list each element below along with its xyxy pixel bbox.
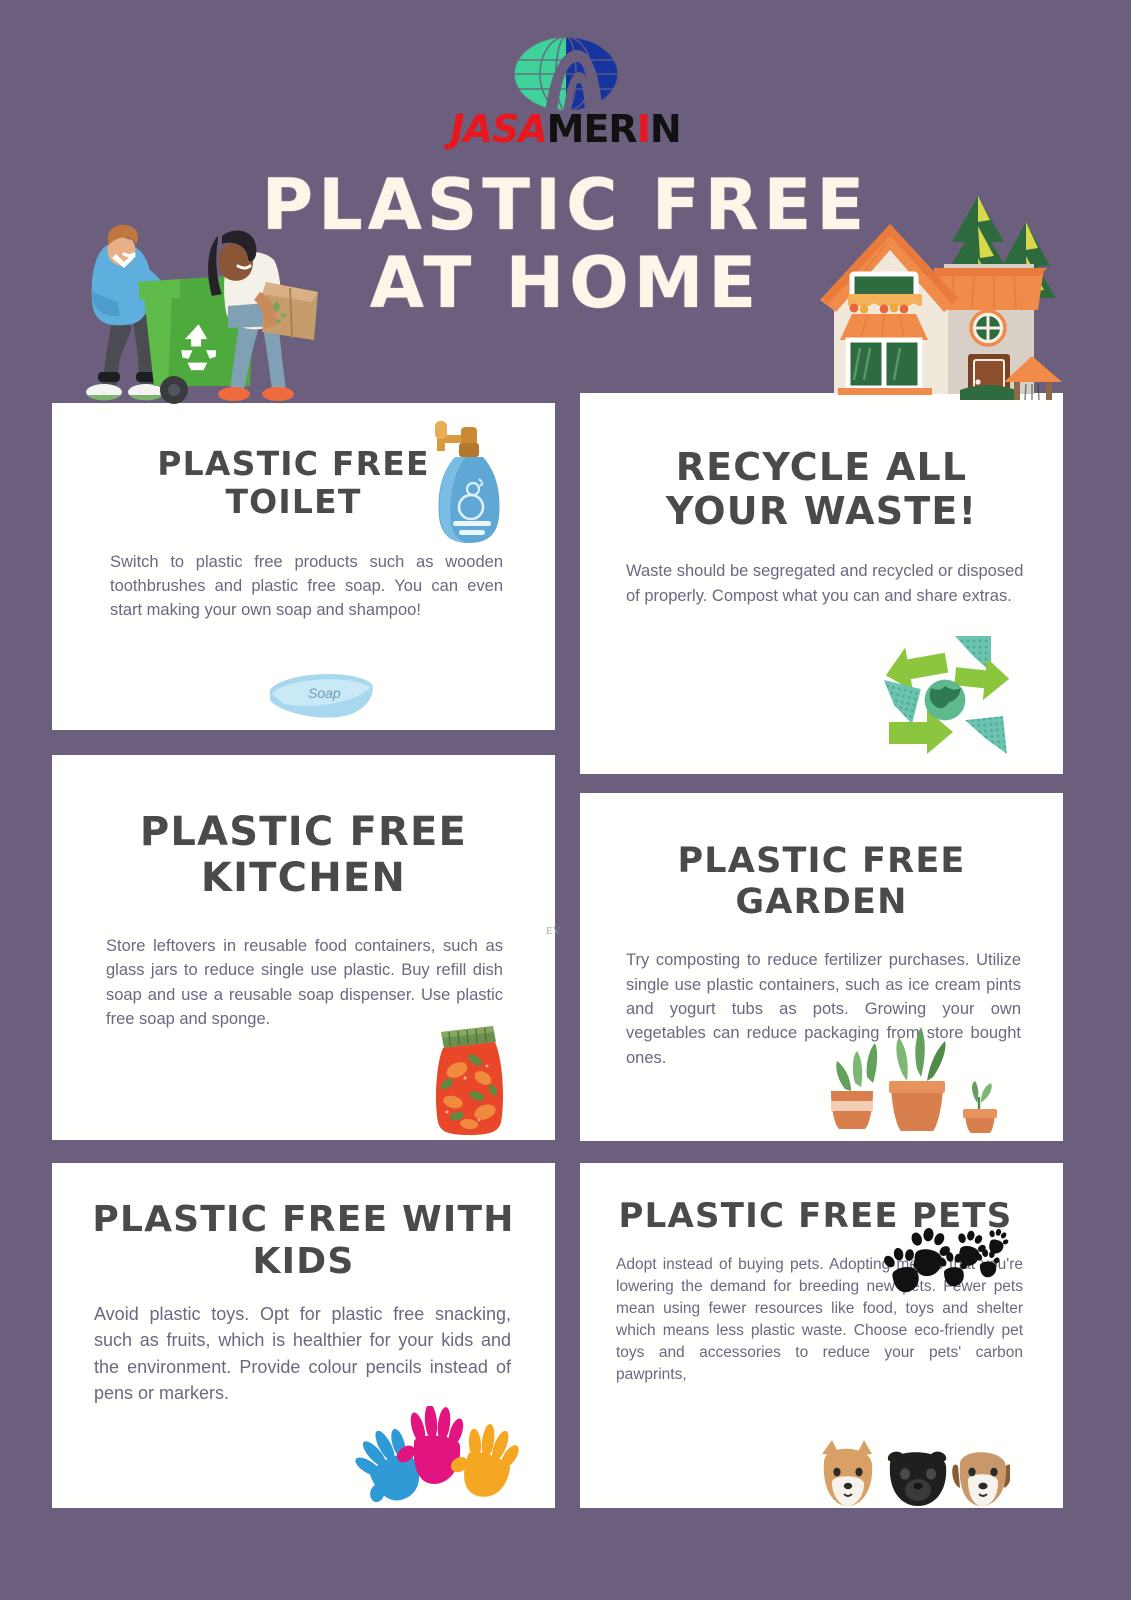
paw-prints-icon xyxy=(877,1225,1011,1293)
card-recycle-all-your-waste[interactable]: RECYCLE ALL YOUR WASTE! Waste should be … xyxy=(580,393,1063,774)
card-plastic-free-garden[interactable]: PLASTIC FREE GARDEN Try composting to re… xyxy=(580,793,1063,1141)
card-title-kids: PLASTIC FREE WITH KIDS xyxy=(74,1199,533,1283)
card-plastic-free-pets[interactable]: PLASTIC FREE PETS xyxy=(580,1163,1063,1508)
card-plastic-free-toilet[interactable]: PLASTIC FREE TOILET Switch to plastic fr… xyxy=(52,403,555,730)
potted-plants-illustration xyxy=(825,1025,1005,1135)
handprints-illustration xyxy=(352,1406,532,1506)
title-line-2: AT HOME xyxy=(0,244,1131,322)
brand-mer: MER xyxy=(547,107,637,151)
dogs-illustration xyxy=(810,1436,1010,1508)
recycle-arrows-globe-illustration xyxy=(869,626,1025,766)
card-title-recycle: RECYCLE ALL YOUR WASTE! xyxy=(614,445,1029,533)
pickle-jar-illustration xyxy=(417,1016,513,1136)
card-title-kitchen: PLASTIC FREE KITCHEN xyxy=(82,809,525,902)
card-plastic-free-kitchen[interactable]: PLASTIC FREE KITCHEN Store leftovers in … xyxy=(52,755,555,1140)
globe-logo-icon xyxy=(507,36,625,116)
card-body-recycle: Waste should be segregated and recycled … xyxy=(626,559,1025,608)
card-plastic-free-with-kids[interactable]: PLASTIC FREE WITH KIDS Avoid plastic toy… xyxy=(52,1163,555,1508)
watermark-text: EV xyxy=(546,925,561,937)
card-title-garden: PLASTIC FREE GARDEN xyxy=(608,841,1035,922)
soap-bar-illustration: Soap xyxy=(262,660,380,724)
card-body-kids: Avoid plastic toys. Opt for plastic free… xyxy=(94,1301,511,1408)
card-body-toilet: Switch to plastic free products such as … xyxy=(110,550,503,623)
infographic-page: JASAMERIN xyxy=(0,0,1131,1600)
svg-text:Soap: Soap xyxy=(308,685,341,701)
brand-n: N xyxy=(650,107,681,151)
brand-jasa: JASA xyxy=(450,107,546,151)
soap-dispenser-illustration xyxy=(421,417,513,547)
brand-logo: JASAMERIN xyxy=(0,36,1131,148)
title-line-1: PLASTIC FREE xyxy=(262,164,869,246)
brand-wordmark: JASAMERIN xyxy=(0,110,1131,148)
page-title: PLASTIC FREE AT HOME xyxy=(0,166,1131,323)
brand-i: I xyxy=(637,107,650,151)
